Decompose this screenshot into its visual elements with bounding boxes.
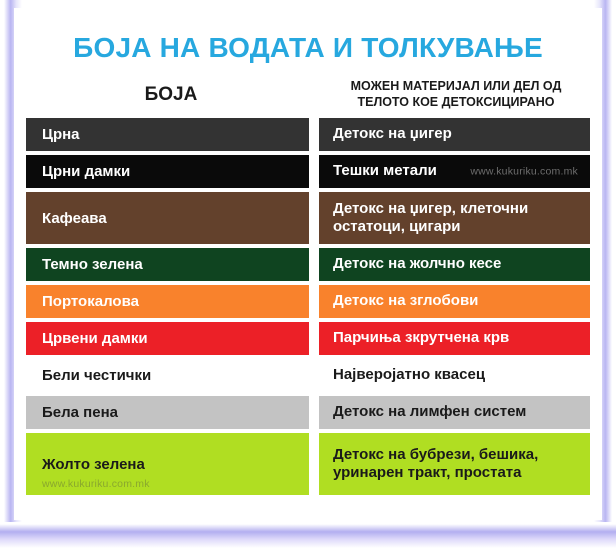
cell-meaning: Детокс на бубрези, бешика,уринарен тракт… bbox=[319, 433, 590, 495]
cell-water-color: Портокалова bbox=[26, 285, 309, 318]
cell-water-color: Кафеава bbox=[26, 192, 309, 244]
table-row: Темно зеленаДетокс на жолчно кесе bbox=[26, 248, 590, 281]
cell-water-color-label: Црни дамки bbox=[42, 163, 130, 180]
cell-meaning: Детокс на лимфен систем bbox=[319, 396, 590, 429]
cell-water-color-label: Бела пена bbox=[42, 404, 118, 421]
cell-meaning: Детокс на џигер bbox=[319, 118, 590, 151]
bottom-edge-gradient bbox=[0, 522, 616, 548]
cell-water-color: Темно зелена bbox=[26, 248, 309, 281]
watermark-url: www.kukuriku.com.mk bbox=[470, 165, 578, 178]
cell-water-color-label: Темно зелена bbox=[42, 256, 143, 273]
column-headers: БОЈА МОЖЕН МАТЕРИЈАЛ ИЛИ ДЕЛ ОД ТЕЛОТО К… bbox=[14, 62, 602, 110]
content-card: БОЈА НА ВОДАТА И ТОЛКУВАЊЕ БОЈА МОЖЕН МА… bbox=[14, 8, 602, 520]
cell-water-color-label: Бели честички bbox=[42, 367, 151, 384]
cell-meaning-label: Детокс на зглобови bbox=[333, 292, 478, 310]
cell-water-color-label: Црна bbox=[42, 126, 80, 143]
table-row: ЦрнаДетокс на џигер bbox=[26, 118, 590, 151]
cell-water-color-label: Жолто зелена bbox=[42, 456, 145, 473]
cell-meaning-label: Најверојатно квасец bbox=[333, 366, 485, 384]
table-row: Црни дамкиТешки металиwww.kukuriku.com.m… bbox=[26, 155, 590, 188]
cell-water-color: Црвени дамки bbox=[26, 322, 309, 355]
cell-water-color: Црна bbox=[26, 118, 309, 151]
table-row: Бела пенаДетокс на лимфен систем bbox=[26, 396, 590, 429]
cell-meaning-label: Детокс на жолчно кесе bbox=[333, 255, 501, 273]
cell-water-color: Жолто зеленаwww.kukuriku.com.mk bbox=[26, 433, 309, 495]
table-row: Црвени дамкиПарчиња зкрутчена крв bbox=[26, 322, 590, 355]
infographic-root: БОЈА НА ВОДАТА И ТОЛКУВАЊЕ БОЈА МОЖЕН МА… bbox=[0, 0, 616, 548]
cell-meaning-label: Детокс на џигер bbox=[333, 125, 452, 143]
table-row: Бели честичкиНајверојатно квасец bbox=[26, 359, 590, 392]
cell-water-color-label: Кафеава bbox=[42, 210, 107, 227]
page-title: БОЈА НА ВОДАТА И ТОЛКУВАЊЕ bbox=[14, 8, 602, 62]
cell-meaning-label: Тешки метали bbox=[333, 162, 437, 180]
column-header-meaning-line2: ТЕЛОТО КОЕ ДЕТОКСИЦИРАНО bbox=[322, 94, 590, 110]
cell-water-color: Црни дамки bbox=[26, 155, 309, 188]
color-interpretation-table: ЦрнаДетокс на џигерЦрни дамкиТешки метал… bbox=[14, 110, 602, 495]
cell-meaning: Детокс на зглобови bbox=[319, 285, 590, 318]
cell-water-color: Бела пена bbox=[26, 396, 309, 429]
cell-water-color-label: Портокалова bbox=[42, 293, 139, 310]
cell-meaning: Тешки металиwww.kukuriku.com.mk bbox=[319, 155, 590, 188]
cell-meaning: Детокс на џигер, клеточниостатоци, цигар… bbox=[319, 192, 590, 244]
cell-meaning: Парчиња зкрутчена крв bbox=[319, 322, 590, 355]
watermark-url: www.kukuriku.com.mk bbox=[42, 478, 150, 490]
cell-meaning-label: Детокс на лимфен систем bbox=[333, 403, 526, 421]
cell-meaning: Детокс на жолчно кесе bbox=[319, 248, 590, 281]
column-header-color: БОЈА bbox=[26, 78, 316, 110]
table-row: ПортокаловаДетокс на зглобови bbox=[26, 285, 590, 318]
cell-water-color-label: Црвени дамки bbox=[42, 330, 148, 347]
cell-water-color: Бели честички bbox=[26, 359, 309, 392]
cell-meaning-label: Детокс на џигер, клеточниостатоци, цигар… bbox=[333, 200, 528, 237]
cell-meaning: Најверојатно квасец bbox=[319, 359, 590, 392]
column-header-meaning-line1: МОЖЕН МАТЕРИЈАЛ ИЛИ ДЕЛ ОД bbox=[322, 78, 590, 94]
table-row: КафеаваДетокс на џигер, клеточниостатоци… bbox=[26, 192, 590, 244]
column-header-meaning: МОЖЕН МАТЕРИЈАЛ ИЛИ ДЕЛ ОД ТЕЛОТО КОЕ ДЕ… bbox=[316, 78, 590, 110]
cell-meaning-label: Детокс на бубрези, бешика,уринарен тракт… bbox=[333, 446, 538, 483]
cell-meaning-label: Парчиња зкрутчена крв bbox=[333, 329, 509, 347]
table-row: Жолто зеленаwww.kukuriku.com.mkДетокс на… bbox=[26, 433, 590, 495]
